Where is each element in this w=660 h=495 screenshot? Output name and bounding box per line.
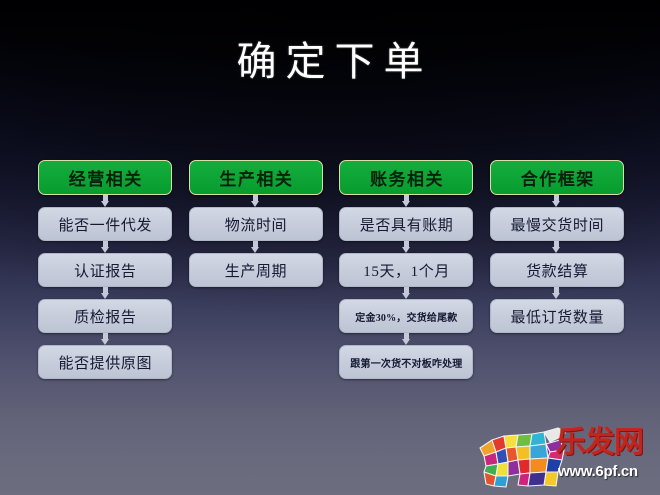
arrow-down-icon xyxy=(101,195,110,207)
flow-item[interactable]: 物流时间 xyxy=(189,207,323,241)
flow-item[interactable]: 质检报告 xyxy=(38,299,172,333)
column-header[interactable]: 生产相关 xyxy=(189,160,323,195)
page-title: 确定下单 xyxy=(0,38,660,86)
flow-item[interactable]: 生产周期 xyxy=(189,253,323,287)
arrow-down-icon xyxy=(402,241,411,253)
arrow-down-icon xyxy=(402,287,411,299)
flow-item[interactable]: 最慢交货时间 xyxy=(490,207,624,241)
flowchart: 经营相关能否一件代发认证报告质检报告能否提供原图生产相关物流时间生产周期账务相关… xyxy=(38,160,624,379)
watermark-logo: 乐发网 www.6pf.cn xyxy=(474,424,656,492)
flow-item[interactable]: 跟第一次货不对板咋处理 xyxy=(339,345,473,379)
arrow-down-icon xyxy=(251,241,260,253)
flow-item[interactable]: 定金30%，交货给尾款 xyxy=(339,299,473,333)
arrow-down-icon xyxy=(251,195,260,207)
column-header[interactable]: 账务相关 xyxy=(339,160,473,195)
brand-name-mark: 乐发网 xyxy=(556,424,656,466)
flow-column: 账务相关是否具有账期15天，1个月定金30%，交货给尾款跟第一次货不对板咋处理 xyxy=(339,160,473,379)
flow-item[interactable]: 是否具有账期 xyxy=(339,207,473,241)
flow-item[interactable]: 能否一件代发 xyxy=(38,207,172,241)
arrow-down-icon xyxy=(552,287,561,299)
column-header[interactable]: 经营相关 xyxy=(38,160,172,195)
arrow-down-icon xyxy=(101,287,110,299)
flow-column: 合作框架最慢交货时间货款结算最低订货数量 xyxy=(490,160,624,379)
flow-column: 生产相关物流时间生产周期 xyxy=(189,160,323,379)
brand-url: www.6pf.cn xyxy=(558,462,656,482)
arrow-down-icon xyxy=(402,195,411,207)
brand-name-text: 乐发网 xyxy=(556,424,656,464)
flow-item[interactable]: 认证报告 xyxy=(38,253,172,287)
arrow-down-icon xyxy=(402,333,411,345)
arrow-down-icon xyxy=(552,241,561,253)
flow-item[interactable]: 能否提供原图 xyxy=(38,345,172,379)
arrow-down-icon xyxy=(101,241,110,253)
arrow-down-icon xyxy=(552,195,561,207)
flow-item[interactable]: 最低订货数量 xyxy=(490,299,624,333)
flow-item[interactable]: 15天，1个月 xyxy=(339,253,473,287)
flow-column: 经营相关能否一件代发认证报告质检报告能否提供原图 xyxy=(38,160,172,379)
flow-item[interactable]: 货款结算 xyxy=(490,253,624,287)
arrow-down-icon xyxy=(101,333,110,345)
column-header[interactable]: 合作框架 xyxy=(490,160,624,195)
slide-canvas: 确定下单 经营相关能否一件代发认证报告质检报告能否提供原图生产相关物流时间生产周… xyxy=(0,0,660,495)
